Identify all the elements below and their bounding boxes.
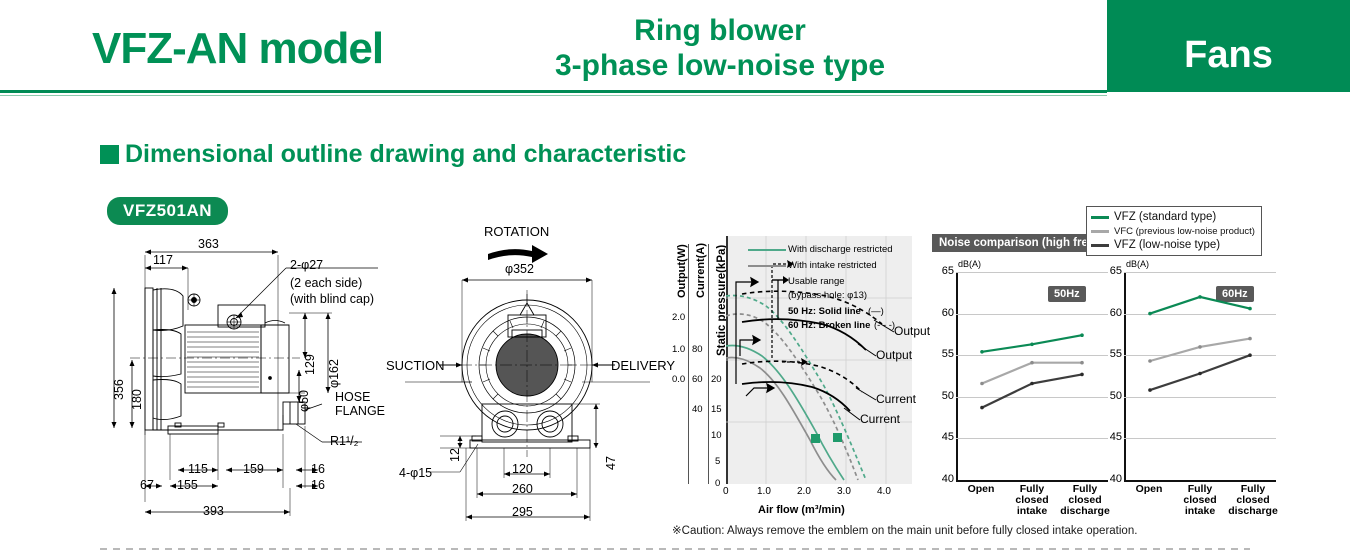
model-badge: VFZ501AN	[107, 197, 228, 225]
dim-47: 47	[604, 456, 618, 470]
pressure-tick-5: 5	[715, 456, 720, 467]
output-tick-2: 0.0	[672, 374, 685, 385]
legend-swatch-vfz-standard	[1091, 216, 1109, 219]
noise-unit-50hz: dB(A)	[958, 259, 981, 269]
noise-60hz-ytick-45: 45	[1100, 431, 1122, 443]
dim-16-upper: 16	[311, 462, 325, 476]
noise-60hz-ytick-65: 65	[1100, 265, 1122, 277]
note-each-side: (2 each side)	[290, 276, 362, 290]
category-tab-label: Fans	[1107, 34, 1350, 77]
xtick-0: 0	[723, 486, 729, 497]
caution-note: ※Caution: Always remove the emblem on th…	[672, 523, 1137, 537]
dim-phi162: φ162	[327, 359, 341, 388]
noise-60hz-xtick-closed-discharge: Fully closed discharge	[1226, 484, 1280, 517]
dim-180: 180	[130, 389, 144, 410]
xtick60-intake-line2: intake	[1185, 505, 1215, 517]
legend-60hz-symbol: (- - -)	[874, 320, 895, 331]
axis-title-airflow: Air flow (m³/min)	[758, 504, 845, 516]
xtick-intake-line2: intake	[1017, 505, 1047, 517]
curve-label-current-50hz: Current	[860, 412, 900, 426]
pressure-tick-10: 10	[711, 430, 722, 441]
dim-260: 260	[512, 482, 533, 496]
section-heading-label: Dimensional outline drawing and characte…	[125, 140, 686, 169]
dim-115: 115	[188, 462, 208, 476]
dim-12: 12	[448, 448, 462, 462]
noise-legend-label-2: VFZ (low-noise type)	[1114, 239, 1220, 251]
dim-295: 295	[512, 505, 533, 519]
performance-chart: Output(W) Current(A) Static pressure(kPa…	[672, 236, 920, 498]
square-bullet-icon	[100, 145, 119, 164]
legend-50hz: 50 Hz: Solid line	[788, 306, 861, 317]
page-header: VFZ-AN model Ring blower 3-phase low-noi…	[0, 0, 1350, 92]
xtick-intake-line1: Fully closed	[1015, 483, 1048, 506]
current-tick-0: 80	[692, 344, 703, 355]
dim-159: 159	[243, 462, 264, 476]
noise-legend-item-vfz-standard: VFZ (standard type)	[1091, 210, 1255, 224]
noise-50hz-series	[956, 272, 1108, 480]
note-blind-cap: (with blind cap)	[290, 292, 374, 306]
noise-50hz-xtick-closed-intake: Fully closed intake	[1008, 484, 1056, 517]
output-tick-0: 2.0	[672, 312, 685, 323]
xtick60-open-line1: Open	[1136, 483, 1163, 495]
dim-356: 356	[112, 379, 126, 400]
footer-dashed-rule	[100, 548, 1250, 550]
header-subtitle-line2: 3-phase low-noise type	[500, 49, 940, 84]
xtick-open-line1: Open	[968, 483, 995, 495]
output-tick-1: 1.0	[672, 344, 685, 355]
label-delivery: DELIVERY	[611, 358, 675, 373]
header-subtitle: Ring blower 3-phase low-noise type	[500, 14, 940, 83]
current-tick-2: 40	[692, 404, 703, 415]
curve-label-output-50hz: Output	[876, 348, 912, 362]
xtick-discharge-line1: Fully closed	[1068, 483, 1101, 506]
noise-legend-label-1: VFC (previous low-noise product)	[1114, 226, 1255, 237]
legend-usable-range: Usable range	[788, 276, 845, 287]
section-heading: Dimensional outline drawing and characte…	[100, 140, 686, 169]
legend-intake-restricted: With intake restricted	[788, 260, 877, 271]
dim-phi352: φ352	[505, 262, 534, 276]
xtick-discharge-line2: discharge	[1060, 505, 1110, 517]
header-rule-thin	[0, 95, 1107, 96]
pressure-tick-15: 15	[711, 404, 722, 415]
dim-155: 155	[177, 478, 198, 492]
noise-legend-item-vfc-previous: VFC (previous low-noise product)	[1091, 224, 1255, 238]
noise-50hz-ytick-50: 50	[932, 390, 954, 402]
noise-60hz-ytick-50: 50	[1100, 390, 1122, 402]
noise-50hz-ytick-65: 65	[932, 265, 954, 277]
curve-label-output-60hz: Output	[894, 324, 930, 338]
axis-title-output: Output(W)	[676, 244, 688, 298]
noise-50hz-ytick-45: 45	[932, 431, 954, 443]
header-subtitle-line1: Ring blower	[500, 14, 940, 49]
page-title: VFZ-AN model	[92, 24, 383, 74]
xtick60-discharge-line2: discharge	[1228, 505, 1278, 517]
noise-60hz-ytick-55: 55	[1100, 348, 1122, 360]
header-rule	[0, 90, 1107, 93]
axis-title-current: Current(A)	[695, 243, 707, 298]
noise-50hz-ytick-55: 55	[932, 348, 954, 360]
legend-swatch-vfc	[1091, 230, 1109, 233]
xtick60-intake-line1: Fully closed	[1183, 483, 1216, 506]
dim-67: 67	[140, 478, 154, 492]
legend-discharge-restricted: With discharge restricted	[788, 244, 893, 255]
dim-16-lower: 16	[311, 478, 325, 492]
xtick-3: 3.0	[837, 486, 851, 497]
front-view-drawing	[400, 222, 680, 532]
dim-phi50: φ50	[297, 390, 311, 412]
noise-60hz-x-axis	[1124, 480, 1276, 482]
noise-60hz-xtick-closed-intake: Fully closed intake	[1176, 484, 1224, 517]
legend-swatch-vfz-lownoise	[1091, 244, 1109, 247]
noise-60hz-series	[1124, 272, 1276, 480]
note-2-phi27: 2-φ27	[290, 258, 323, 272]
dim-117: 117	[153, 253, 173, 267]
pressure-tick-0: 0	[715, 478, 720, 489]
note-4-phi15: 4-φ15	[399, 466, 432, 480]
axis-spine-output	[688, 244, 689, 484]
noise-50hz-x-axis	[956, 480, 1108, 482]
label-rotation: ROTATION	[484, 224, 549, 239]
noise-unit-60hz: dB(A)	[1126, 259, 1149, 269]
pressure-tick-20: 20	[711, 374, 722, 385]
legend-50hz-symbol: (—)	[868, 306, 884, 317]
label-flange: FLANGE	[335, 404, 385, 418]
noise-50hz-ytick-60: 60	[932, 307, 954, 319]
xtick60-discharge-line1: Fully closed	[1236, 483, 1269, 506]
noise-60hz-ytick-60: 60	[1100, 307, 1122, 319]
dim-129: 129	[303, 354, 317, 375]
xtick-2: 2.0	[797, 486, 811, 497]
noise-60hz-xtick-open: Open	[1126, 484, 1172, 495]
label-thread-r112: R1¹/₂	[330, 434, 358, 448]
dim-363: 363	[198, 237, 219, 251]
legend-bypass-hole: (bypass hole: φ13)	[788, 290, 867, 301]
legend-usable-leader	[772, 280, 786, 322]
xtick-1: 1.0	[757, 486, 771, 497]
xtick-4: 4.0	[877, 486, 891, 497]
noise-50hz-xtick-open: Open	[958, 484, 1004, 495]
label-hose: HOSE	[335, 390, 370, 404]
dim-393: 393	[203, 504, 224, 518]
curve-label-current-60hz: Current	[876, 392, 916, 406]
axis-spine-current	[708, 244, 709, 484]
noise-legend-label-0: VFZ (standard type)	[1114, 211, 1216, 223]
dim-120: 120	[512, 462, 533, 476]
legend-60hz: 60 Hz: Broken line	[788, 320, 870, 331]
noise-legend: VFZ (standard type) VFC (previous low-no…	[1086, 206, 1262, 256]
noise-chart-60hz: dB(A) 65 60 55 50 45 40 60Hz Open Fully …	[1098, 262, 1283, 494]
category-tab-fans[interactable]: Fans	[1107, 0, 1350, 92]
noise-chart-50hz: dB(A) 65 60 55 50 45 40 50Hz Open Fully …	[930, 262, 1115, 494]
noise-60hz-ytick-40: 40	[1100, 473, 1122, 485]
current-tick-1: 60	[692, 374, 703, 385]
legend-swatches	[748, 244, 788, 278]
noise-legend-item-vfz-lownoise: VFZ (low-noise type)	[1091, 238, 1255, 252]
noise-50hz-ytick-40: 40	[932, 473, 954, 485]
label-suction: SUCTION	[386, 358, 445, 373]
